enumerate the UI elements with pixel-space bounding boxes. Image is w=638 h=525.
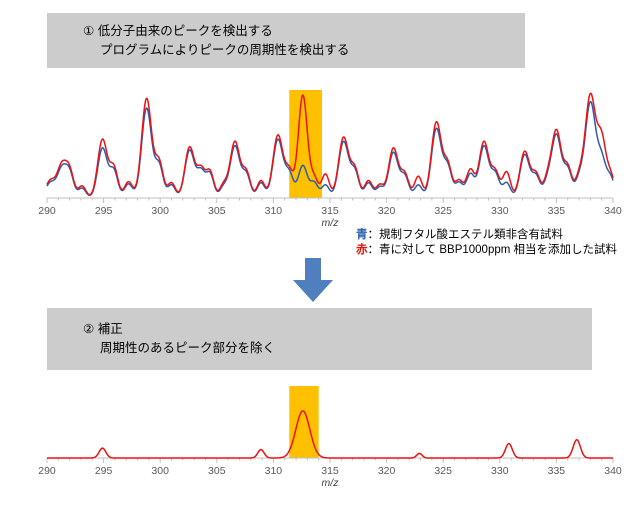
x-tick-label: 310 [265,465,283,477]
bottom-residual-chart: 290295300305310315320325330335340m/z [0,378,638,493]
step1-text1: 低分子由来のピークを検出する [98,24,273,38]
step2-line1: ② 補正 [83,320,275,339]
x-tick-label: 305 [208,465,226,477]
legend-key-red: 赤 [356,244,368,256]
x-tick-label: 330 [491,205,509,217]
step1-line1: ① 低分子由来のピークを検出する [83,22,349,41]
x-tick-label: 290 [38,465,56,477]
down-arrow-icon [289,258,337,304]
x-tick-label: 325 [434,465,452,477]
x-tick-label: 335 [548,465,566,477]
top-spectrum-chart: 290295300305310315320325330335340m/z [0,80,638,230]
top-spectrum-svg: 290295300305310315320325330335340m/z [0,80,638,230]
x-tick-label: 310 [265,205,283,217]
step1-number: ① [83,24,94,38]
step2-caption-bar: ② 補正 周期性のあるピーク部分を除く [47,308,592,370]
x-axis-label: m/z [322,477,340,489]
x-tick-label: 300 [151,205,169,217]
spectrum-trace [47,411,613,458]
x-tick-label: 290 [38,205,56,217]
step2-line2: 周期性のあるピーク部分を除く [83,339,275,358]
x-tick-label: 320 [378,205,396,217]
x-tick-label: 340 [604,205,622,217]
down-arrow [289,258,337,304]
legend-row-blue: 青：規制フタル酸エステル類非含有試料 [356,228,631,243]
x-tick-label: 295 [95,465,113,477]
legend-text-red: ：青に対して BBP1000ppm 相当を添加した試料 [368,244,618,256]
x-tick-label: 315 [321,205,339,217]
legend-key-blue: 青 [356,229,368,241]
x-tick-label: 305 [208,205,226,217]
step1-line2: プログラムによりピークの周期性を検出する [83,41,349,60]
x-axis-label: m/z [322,217,340,229]
legend-text-blue: ：規制フタル酸エステル類非含有試料 [368,229,564,241]
step2-number: ② [83,322,94,336]
step2-text1: 補正 [98,322,123,336]
spectrum-trace [47,93,613,194]
x-tick-label: 315 [321,465,339,477]
x-tick-label: 330 [491,465,509,477]
x-tick-label: 320 [378,465,396,477]
x-tick-label: 340 [604,465,622,477]
spectrum-legend: 青：規制フタル酸エステル類非含有試料 赤：青に対して BBP1000ppm 相当… [356,228,631,258]
x-tick-label: 295 [95,205,113,217]
step1-caption-bar: ① 低分子由来のピークを検出する プログラムによりピークの周期性を検出する [47,13,525,68]
x-tick-label: 300 [151,465,169,477]
x-tick-label: 335 [548,205,566,217]
bottom-residual-svg: 290295300305310315320325330335340m/z [0,378,638,493]
spectrum-trace [47,102,613,196]
legend-row-red: 赤：青に対して BBP1000ppm 相当を添加した試料 [356,243,631,258]
x-tick-label: 325 [434,205,452,217]
